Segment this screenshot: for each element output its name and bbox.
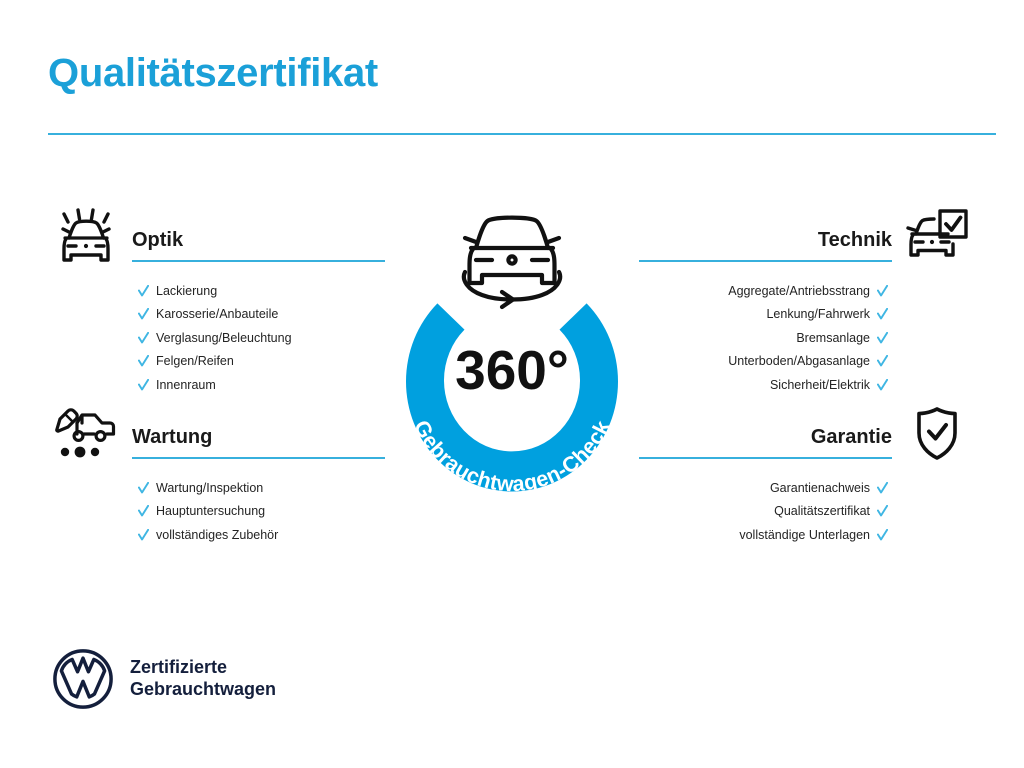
- list-item: Lenkung/Fahrwerk: [766, 303, 888, 327]
- section-technik-list: Aggregate/Antriebsstrang Lenkung/Fahrwer…: [631, 279, 976, 397]
- shield-check-icon: [898, 403, 976, 465]
- 360-check-badge: Gebrauchtwagen-Check 360°: [371, 196, 653, 496]
- section-garantie-underline: [639, 457, 892, 459]
- list-item-label: Lenkung/Fahrwerk: [766, 307, 870, 321]
- title-divider: [48, 133, 996, 135]
- vw-label-line2: Gebrauchtwagen: [130, 679, 276, 701]
- list-item-label: Sicherheit/Elektrik: [770, 378, 870, 392]
- list-item: Bremsanlage: [796, 326, 888, 350]
- list-item: Lackierung: [138, 279, 393, 303]
- list-item: Verglasung/Beleuchtung: [138, 326, 393, 350]
- section-garantie-header: Garantie: [631, 403, 976, 465]
- section-garantie-list: Garantienachweis Qualitätszertifikat vol…: [631, 476, 976, 547]
- list-item-label: Qualitätszertifikat: [774, 504, 870, 518]
- list-item-label: Garantienachweis: [770, 481, 870, 495]
- list-item: vollständige Unterlagen: [739, 523, 888, 547]
- check-icon: [138, 482, 149, 494]
- section-technik: Technik Aggregate/Antriebsstrang Lenkung…: [631, 206, 976, 397]
- section-wartung-underline: [132, 457, 385, 459]
- section-technik-header: Technik: [631, 206, 976, 268]
- list-item-label: Innenraum: [156, 378, 216, 392]
- check-icon: [877, 285, 888, 297]
- vw-certified-label: Zertifizierte Gebrauchtwagen: [130, 657, 276, 701]
- badge-center-label: 360°: [455, 339, 569, 401]
- list-item: Felgen/Reifen: [138, 350, 393, 374]
- list-item-label: Felgen/Reifen: [156, 354, 234, 368]
- list-item: Unterboden/Abgasanlage: [728, 350, 888, 374]
- section-garantie: Garantie Garantienachweis Qualitätszerti…: [631, 403, 976, 547]
- list-item-label: Verglasung/Beleuchtung: [156, 331, 292, 345]
- car-rotate-icon: [464, 218, 560, 307]
- check-icon: [877, 355, 888, 367]
- car-checkbox-icon: [898, 206, 976, 268]
- check-icon: [138, 379, 149, 391]
- car-shine-icon: [48, 206, 126, 268]
- list-item: Karosserie/Anbauteile: [138, 303, 393, 327]
- vw-logo: [52, 648, 114, 710]
- section-wartung-list: Wartung/Inspektion Hauptuntersuchung vol…: [48, 476, 393, 547]
- list-item: Aggregate/Antriebsstrang: [728, 279, 888, 303]
- check-icon: [877, 332, 888, 344]
- list-item: vollständiges Zubehör: [138, 523, 393, 547]
- section-wartung: Wartung Wartung/Inspektion Hauptuntersuc…: [48, 403, 393, 547]
- list-item: Qualitätszertifikat: [774, 500, 888, 524]
- check-icon: [877, 505, 888, 517]
- section-optik-list: Lackierung Karosserie/Anbauteile Verglas…: [48, 279, 393, 397]
- list-item: Garantienachweis: [770, 476, 888, 500]
- section-garantie-title: Garantie: [811, 426, 892, 449]
- check-icon: [877, 308, 888, 320]
- list-item-label: Aggregate/Antriebsstrang: [728, 284, 870, 298]
- check-icon: [138, 505, 149, 517]
- list-item: Hauptuntersuchung: [138, 500, 393, 524]
- section-technik-title: Technik: [818, 229, 892, 252]
- vw-certified-logo-block: Zertifizierte Gebrauchtwagen: [52, 648, 276, 710]
- list-item: Wartung/Inspektion: [138, 476, 393, 500]
- check-icon: [138, 529, 149, 541]
- page-title: Qualitätszertifikat: [48, 51, 378, 95]
- certificate-page: Qualitätszertifikat: [0, 0, 1024, 768]
- list-item-label: Wartung/Inspektion: [156, 481, 263, 495]
- section-optik-title: Optik: [132, 229, 183, 252]
- vw-label-line1: Zertifizierte: [130, 657, 276, 679]
- list-item: Innenraum: [138, 373, 393, 397]
- check-icon: [877, 379, 888, 391]
- check-icon: [138, 308, 149, 320]
- section-wartung-header: Wartung: [48, 403, 393, 465]
- check-icon: [877, 529, 888, 541]
- list-item-label: vollständige Unterlagen: [739, 528, 870, 542]
- section-optik-header: Optik: [48, 206, 393, 268]
- list-item-label: vollständiges Zubehör: [156, 528, 278, 542]
- section-wartung-title: Wartung: [132, 426, 212, 449]
- check-icon: [138, 285, 149, 297]
- list-item-label: Unterboden/Abgasanlage: [728, 354, 870, 368]
- check-icon: [138, 355, 149, 367]
- section-technik-underline: [639, 260, 892, 262]
- section-optik: Optik Lackierung Karosserie/Anbauteile V…: [48, 206, 393, 397]
- section-optik-underline: [132, 260, 385, 262]
- pen-car-service-icon: [48, 403, 126, 465]
- check-icon: [138, 332, 149, 344]
- list-item-label: Karosserie/Anbauteile: [156, 307, 278, 321]
- list-item-label: Hauptuntersuchung: [156, 504, 265, 518]
- check-icon: [877, 482, 888, 494]
- list-item-label: Lackierung: [156, 284, 217, 298]
- list-item: Sicherheit/Elektrik: [770, 373, 888, 397]
- list-item-label: Bremsanlage: [796, 331, 870, 345]
